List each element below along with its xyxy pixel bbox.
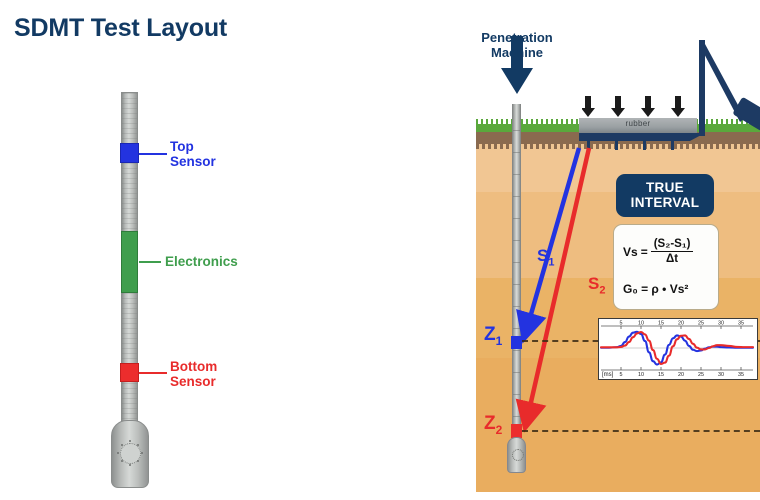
true-interval-badge: TRUE INTERVAL	[616, 174, 714, 217]
svg-text:5: 5	[620, 372, 623, 378]
svg-text:10: 10	[638, 321, 644, 327]
formula-box: Vs = (S₂-S₁) Δt G₀ = ρ • Vs²	[613, 224, 719, 310]
top-sensor-label-line2: Sensor	[170, 154, 216, 169]
dilatometer-blade-tip	[111, 420, 149, 488]
fraction-bar	[651, 251, 694, 252]
svg-text:15: 15	[658, 372, 664, 378]
z1-label-text: Z	[484, 324, 496, 345]
g0-formula: G₀ = ρ • Vs²	[623, 282, 688, 296]
z2-depth-label: Z2	[484, 413, 502, 437]
seismic-waveform-chart: 51015202530355101520253035 [ms]	[598, 318, 758, 380]
bottom-sensor-label-line2: Sensor	[170, 374, 216, 389]
waveform-plot: 51015202530355101520253035	[599, 319, 756, 378]
s2-label-sub: 2	[599, 284, 605, 296]
z2-depth-line	[522, 430, 760, 432]
svg-text:10: 10	[638, 372, 644, 378]
bolt-ring-icon	[117, 440, 144, 467]
top-sensor-label: Top Sensor	[170, 139, 216, 169]
bottom-sensor-band	[120, 363, 139, 382]
top-sensor-band	[120, 143, 139, 163]
z1-label-sub: 1	[496, 334, 503, 348]
vs-denominator: Δt	[651, 253, 694, 265]
z2-label-text: Z	[484, 413, 496, 434]
s1-label-text: S	[537, 246, 548, 265]
svg-text:15: 15	[658, 321, 664, 327]
top-sensor-label-line1: Top	[170, 139, 194, 154]
svg-text:35: 35	[738, 372, 744, 378]
bottom-sensor-label-line1: Bottom	[170, 359, 217, 374]
vs-numerator: (S₂-S₁)	[651, 238, 694, 250]
svg-text:20: 20	[678, 321, 684, 327]
electronics-label: Electronics	[165, 254, 238, 269]
bottom-sensor-label: Bottom Sensor	[170, 359, 217, 389]
z1-depth-label: Z1	[484, 324, 502, 348]
badge-line2: INTERVAL	[631, 195, 700, 210]
svg-text:5: 5	[620, 321, 623, 327]
svg-text:20: 20	[678, 372, 684, 378]
s1-ray-label: S1	[537, 246, 554, 268]
s1-label-sub: 1	[548, 256, 554, 268]
top-sensor-leader-line	[139, 153, 167, 155]
badge-line1: TRUE	[646, 180, 684, 195]
z2-label-sub: 2	[496, 423, 503, 437]
svg-text:35: 35	[738, 321, 744, 327]
electronics-leader-line	[139, 261, 161, 263]
probe-layout-panel: Top Sensor Electronics Bottom Sensor	[0, 0, 470, 500]
s2-label-text: S	[588, 274, 599, 293]
vs-equals: =	[641, 245, 648, 259]
vs-fraction: (S₂-S₁) Δt	[651, 238, 694, 265]
s2-ray-label: S2	[588, 274, 605, 296]
svg-text:30: 30	[718, 321, 724, 327]
svg-text:25: 25	[698, 321, 704, 327]
bottom-sensor-leader-line	[139, 372, 167, 374]
waveform-unit-label: [ms]	[602, 372, 613, 378]
vs-lhs: Vs	[623, 245, 638, 259]
electronics-band	[121, 231, 138, 293]
soil-cross-section-panel: Penetration Machine rubber	[476, 8, 760, 492]
vs-formula: Vs = (S₂-S₁) Δt	[623, 238, 693, 265]
svg-text:25: 25	[698, 372, 704, 378]
svg-text:30: 30	[718, 372, 724, 378]
